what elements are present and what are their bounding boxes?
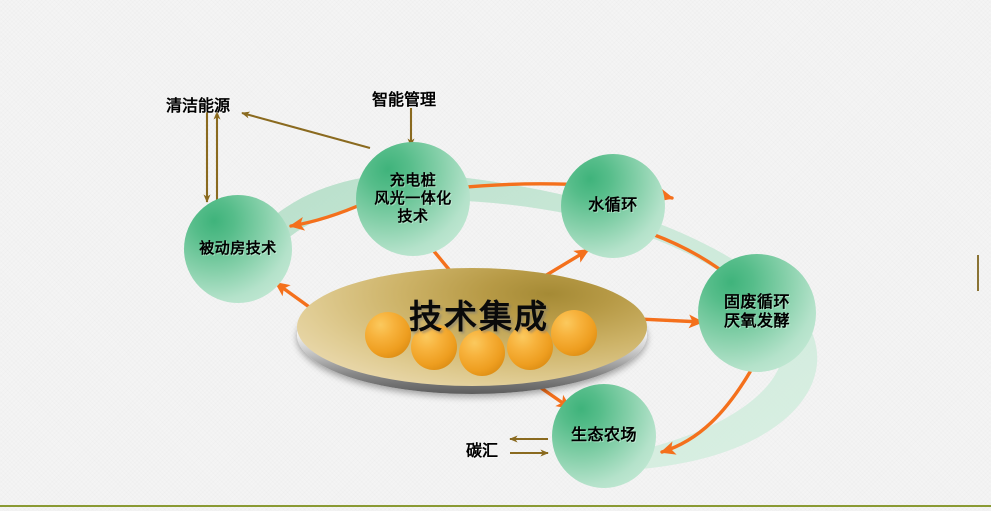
node-charging-line-1: 充电桩: [374, 172, 452, 190]
node-eco-farm[interactable]: 生态农场: [552, 384, 656, 488]
node-eco-farm-line-1: 生态农场: [571, 427, 637, 446]
node-solid-waste-line-1: 固废循环: [724, 294, 790, 313]
diagram-vector-layer: [0, 0, 991, 511]
node-charging-line-2: 风光一体化: [374, 190, 452, 208]
label-carbon-sink: 碳汇: [466, 437, 498, 461]
label-clean-energy: 清洁能源: [166, 92, 230, 116]
node-charging-line-3: 技术: [374, 208, 452, 226]
node-water-line-1: 水循环: [588, 197, 638, 216]
gold-ball: [551, 310, 597, 356]
node-solid-waste-line-2: 厌氧发酵: [724, 313, 790, 332]
label-smart-management: 智能管理: [372, 86, 436, 110]
node-charging[interactable]: 充电桩 风光一体化 技术: [356, 142, 470, 256]
arrow-charging-to-cleanenergy: [242, 113, 370, 148]
center-title: 技术集成: [409, 290, 549, 338]
gold-ball: [365, 312, 411, 358]
bottom-edge-rule: [0, 505, 991, 507]
node-passive-house-line-1: 被动房技术: [199, 240, 277, 258]
node-solid-waste[interactable]: 固废循环 厌氧发酵: [698, 254, 816, 372]
right-edge-rule: [977, 255, 979, 291]
diagram-canvas: 技术集成 充电桩 风光一体化 技术 水循环 固废循环 厌氧发酵 生态农场 被动房…: [0, 0, 991, 511]
node-water[interactable]: 水循环: [561, 154, 665, 258]
node-passive-house[interactable]: 被动房技术: [184, 195, 292, 303]
